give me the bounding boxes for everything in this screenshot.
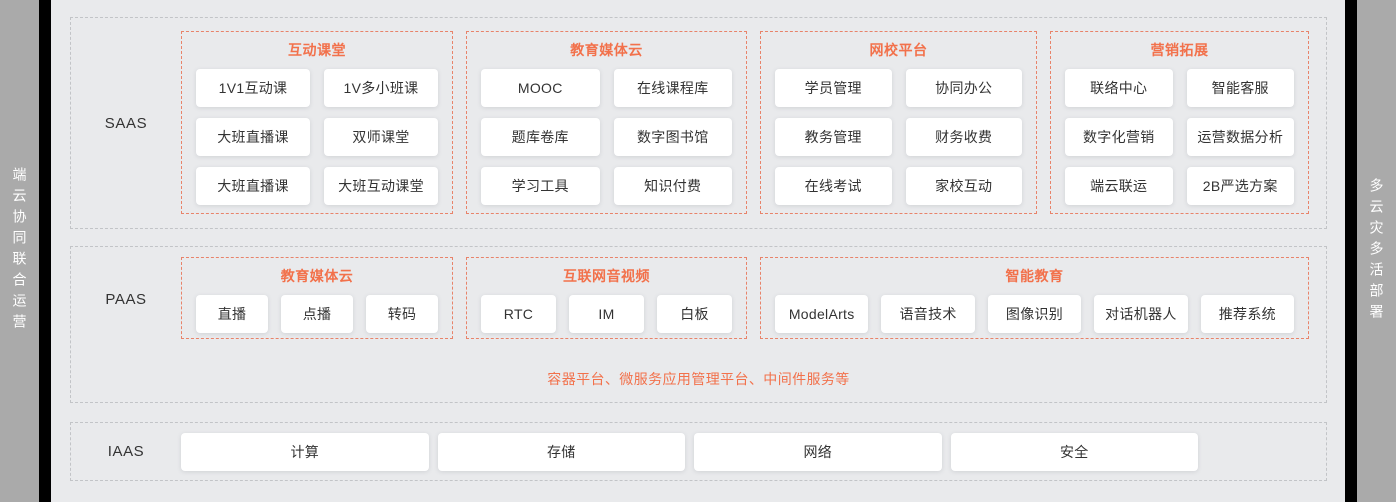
group-title: 教育媒体云 xyxy=(281,266,354,286)
service-card[interactable]: 知识付费 xyxy=(614,167,733,205)
layer-label-paas: PAAS xyxy=(71,247,181,351)
service-card[interactable]: 转码 xyxy=(366,295,438,333)
service-card[interactable]: 联络中心 xyxy=(1065,69,1173,107)
service-card[interactable]: 大班直播课 xyxy=(196,167,310,205)
service-card[interactable]: 2B严选方案 xyxy=(1187,167,1295,205)
service-card[interactable]: 直播 xyxy=(196,295,268,333)
group-intelligent-education: 智能教育 ModelArts 语音技术 图像识别 对话机器人 推荐系统 xyxy=(760,257,1309,339)
paas-row: PAAS 教育媒体云 直播 点播 转码 互联网音视频 RTC xyxy=(71,247,1326,351)
service-card[interactable]: 1V1互动课 xyxy=(196,69,310,107)
layer-saas: SAAS 互动课堂 1V1互动课 1V多小班课 大班直播课 双师课堂 大班直播课… xyxy=(70,17,1327,229)
service-card[interactable]: 大班直播课 xyxy=(196,118,310,156)
group-items: 联络中心 智能客服 数字化营销 运营数据分析 端云联运 2B严选方案 xyxy=(1065,69,1294,205)
layer-label-iaas: IAAS xyxy=(71,443,181,460)
group-education-media-cloud-paas: 教育媒体云 直播 点播 转码 xyxy=(181,257,453,339)
iaas-cards: 计算 存储 网络 安全 xyxy=(181,433,1326,471)
service-card[interactable]: 对话机器人 xyxy=(1094,295,1187,333)
service-card[interactable]: 协同办公 xyxy=(906,69,1023,107)
service-card[interactable]: 家校互动 xyxy=(906,167,1023,205)
service-card[interactable]: 大班互动课堂 xyxy=(324,167,438,205)
service-card[interactable]: 双师课堂 xyxy=(324,118,438,156)
group-title: 智能教育 xyxy=(1006,266,1064,286)
service-card[interactable]: RTC xyxy=(481,295,556,333)
group-items: RTC IM 白板 xyxy=(481,295,732,333)
left-rail: 端云协同联合运营 xyxy=(0,0,51,502)
service-card[interactable]: 点播 xyxy=(281,295,353,333)
group-interactive-classroom: 互动课堂 1V1互动课 1V多小班课 大班直播课 双师课堂 大班直播课 大班互动… xyxy=(181,31,453,214)
architecture-diagram: 端云协同联合运营 SAAS 互动课堂 1V1互动课 1V多小班课 大班直播课 双… xyxy=(0,0,1396,502)
group-title: 教育媒体云 xyxy=(570,40,643,60)
service-card[interactable]: ModelArts xyxy=(775,295,868,333)
service-card[interactable]: IM xyxy=(569,295,644,333)
group-items: 1V1互动课 1V多小班课 大班直播课 双师课堂 大班直播课 大班互动课堂 xyxy=(196,69,438,205)
service-card[interactable]: 学员管理 xyxy=(775,69,892,107)
service-card[interactable]: 图像识别 xyxy=(988,295,1081,333)
service-card[interactable]: 智能客服 xyxy=(1187,69,1295,107)
service-card[interactable]: 网络 xyxy=(694,433,942,471)
group-title: 互联网音视频 xyxy=(563,266,650,286)
paas-footnote: 容器平台、微服务应用管理平台、中间件服务等 xyxy=(71,351,1326,389)
service-card[interactable]: 教务管理 xyxy=(775,118,892,156)
service-card[interactable]: MOOC xyxy=(481,69,600,107)
paas-groups: 教育媒体云 直播 点播 转码 互联网音视频 RTC IM 白板 xyxy=(181,247,1326,351)
service-card[interactable]: 语音技术 xyxy=(881,295,974,333)
saas-groups: 互动课堂 1V1互动课 1V多小班课 大班直播课 双师课堂 大班直播课 大班互动… xyxy=(181,18,1326,228)
layer-paas: PAAS 教育媒体云 直播 点播 转码 互联网音视频 RTC xyxy=(70,246,1327,403)
service-card[interactable]: 在线课程库 xyxy=(614,69,733,107)
group-items: 学员管理 协同办公 教务管理 财务收费 在线考试 家校互动 xyxy=(775,69,1022,205)
service-card[interactable]: 题库卷库 xyxy=(481,118,600,156)
service-card[interactable]: 端云联运 xyxy=(1065,167,1173,205)
group-items: ModelArts 语音技术 图像识别 对话机器人 推荐系统 xyxy=(775,295,1294,333)
service-card[interactable]: 存储 xyxy=(438,433,686,471)
group-internet-audio-video: 互联网音视频 RTC IM 白板 xyxy=(466,257,747,339)
group-title: 互动课堂 xyxy=(288,40,346,60)
group-title: 网校平台 xyxy=(870,40,928,60)
service-card[interactable]: 1V多小班课 xyxy=(324,69,438,107)
group-online-school-platform: 网校平台 学员管理 协同办公 教务管理 财务收费 在线考试 家校互动 xyxy=(760,31,1037,214)
service-card[interactable]: 白板 xyxy=(657,295,732,333)
group-education-media-cloud: 教育媒体云 MOOC 在线课程库 题库卷库 数字图书馆 学习工具 知识付费 xyxy=(466,31,747,214)
diagram-body: SAAS 互动课堂 1V1互动课 1V多小班课 大班直播课 双师课堂 大班直播课… xyxy=(51,0,1345,502)
service-card[interactable]: 数字图书馆 xyxy=(614,118,733,156)
layer-label-saas: SAAS xyxy=(71,18,181,228)
service-card[interactable]: 财务收费 xyxy=(906,118,1023,156)
group-title: 营销拓展 xyxy=(1151,40,1209,60)
service-card[interactable]: 数字化营销 xyxy=(1065,118,1173,156)
service-card[interactable]: 在线考试 xyxy=(775,167,892,205)
left-rail-label: 端云协同联合运营 xyxy=(13,167,27,335)
service-card[interactable]: 安全 xyxy=(951,433,1199,471)
group-items: 直播 点播 转码 xyxy=(196,295,438,333)
service-card[interactable]: 学习工具 xyxy=(481,167,600,205)
group-marketing-expansion: 营销拓展 联络中心 智能客服 数字化营销 运营数据分析 端云联运 2B严选方案 xyxy=(1050,31,1309,214)
layer-iaas: IAAS 计算 存储 网络 安全 xyxy=(70,422,1327,481)
right-rail-label: 多云灾多活部署 xyxy=(1370,178,1384,325)
group-items: MOOC 在线课程库 题库卷库 数字图书馆 学习工具 知识付费 xyxy=(481,69,732,205)
service-card[interactable]: 计算 xyxy=(181,433,429,471)
service-card[interactable]: 运营数据分析 xyxy=(1187,118,1295,156)
service-card[interactable]: 推荐系统 xyxy=(1201,295,1294,333)
right-rail: 多云灾多活部署 xyxy=(1345,0,1396,502)
